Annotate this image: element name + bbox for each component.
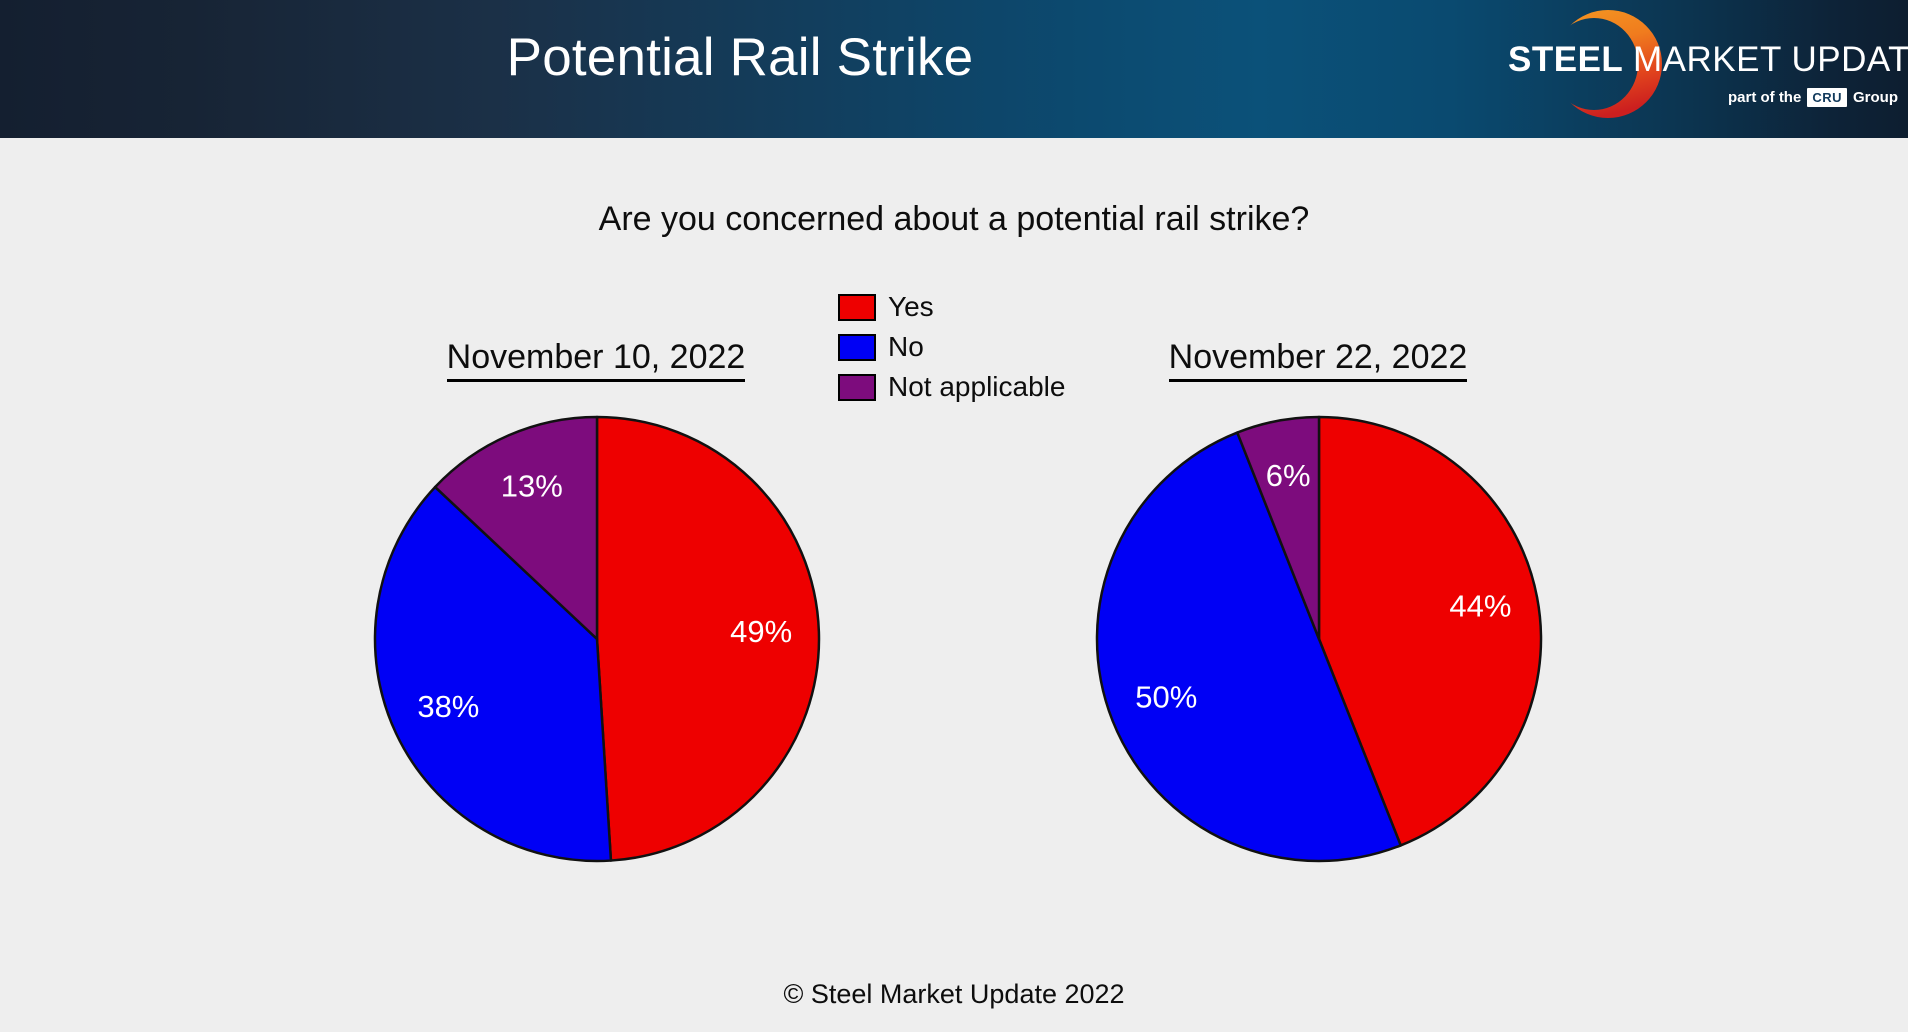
legend-item-yes: Yes xyxy=(838,293,1065,321)
logo-word-market-update: MARKET UPDATE xyxy=(1633,40,1908,79)
pie-title-nov-22: November 22, 2022 xyxy=(1038,338,1598,377)
pie-svg-nov-22: 44%50%6% xyxy=(1094,414,1544,864)
slide-body: Are you concerned about a potential rail… xyxy=(0,138,1908,1032)
pie-slice-label-no: 50% xyxy=(1135,680,1197,715)
pie-panel-nov-10: November 10, 2022 49%38%13% xyxy=(316,338,876,968)
logo-sub-suffix: Group xyxy=(1853,89,1898,106)
poll-question: Are you concerned about a potential rail… xyxy=(0,200,1908,239)
legend-label-yes: Yes xyxy=(888,293,934,321)
pie-title-nov-22-text: November 22, 2022 xyxy=(1169,338,1468,382)
cru-badge: CRU xyxy=(1807,88,1847,107)
pie-slice-label-not-applicable: 13% xyxy=(501,468,563,503)
page-header: Potential Rail Strike STEEL MARKET UPDA xyxy=(0,0,1908,138)
pie-title-nov-10-text: November 10, 2022 xyxy=(447,338,746,382)
pie-chart-nov-10: 49%38%13% xyxy=(372,414,822,864)
pie-panel-nov-22: November 22, 2022 44%50%6% xyxy=(1038,338,1598,968)
copyright-footer: © Steel Market Update 2022 xyxy=(0,979,1908,1010)
pie-chart-nov-22: 44%50%6% xyxy=(1094,414,1544,864)
pie-slice-label-yes: 49% xyxy=(730,614,792,649)
page-title: Potential Rail Strike xyxy=(0,29,1480,87)
logo-wordmark: STEEL MARKET UPDATE xyxy=(1508,40,1900,80)
logo-subline: part of the CRU Group xyxy=(1728,86,1898,108)
legend-label-no: No xyxy=(888,333,924,361)
smu-logo: STEEL MARKET UPDATE part of the CRU Grou… xyxy=(1508,4,1900,132)
pie-title-nov-10: November 10, 2022 xyxy=(316,338,876,377)
pie-svg-nov-10: 49%38%13% xyxy=(372,414,822,864)
legend-swatch-yes xyxy=(838,294,876,321)
pie-slice-label-no: 38% xyxy=(417,689,479,724)
logo-word-steel: STEEL xyxy=(1508,40,1623,79)
logo-sub-prefix: part of the xyxy=(1728,89,1801,106)
pie-slice-label-not-applicable: 6% xyxy=(1266,458,1311,493)
pie-slice-label-yes: 44% xyxy=(1449,588,1511,623)
